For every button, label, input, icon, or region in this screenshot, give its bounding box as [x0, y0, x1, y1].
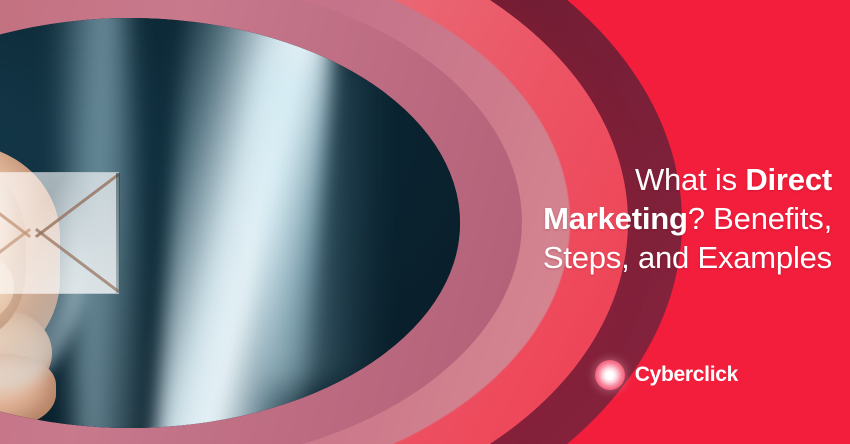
- logo-text: Cyberclick: [635, 363, 738, 387]
- envelope-edge: [116, 173, 120, 293]
- title-line2-regular: ? Benefits,: [688, 201, 832, 236]
- radial-glow-icon: [595, 360, 625, 390]
- cyberclick-logo: Cyberclick: [595, 360, 738, 390]
- banner-graphic: What is Direct Marketing? Benefits, Step…: [0, 0, 850, 444]
- title-line3-regular: Steps, and Examples: [543, 240, 832, 275]
- title-line1-regular: What is: [635, 162, 745, 197]
- envelope-icon: [0, 173, 118, 293]
- envelope-crease-right-icon: [35, 228, 120, 293]
- envelope-flap-left-icon: [0, 173, 31, 238]
- envelope-flap-right-icon: [35, 173, 120, 238]
- page-title: What is Direct Marketing? Benefits, Step…: [362, 160, 832, 277]
- title-line2-bold: Marketing: [543, 201, 688, 236]
- envelope-crease-left-icon: [0, 228, 31, 293]
- title-line1-bold: Direct: [745, 162, 832, 197]
